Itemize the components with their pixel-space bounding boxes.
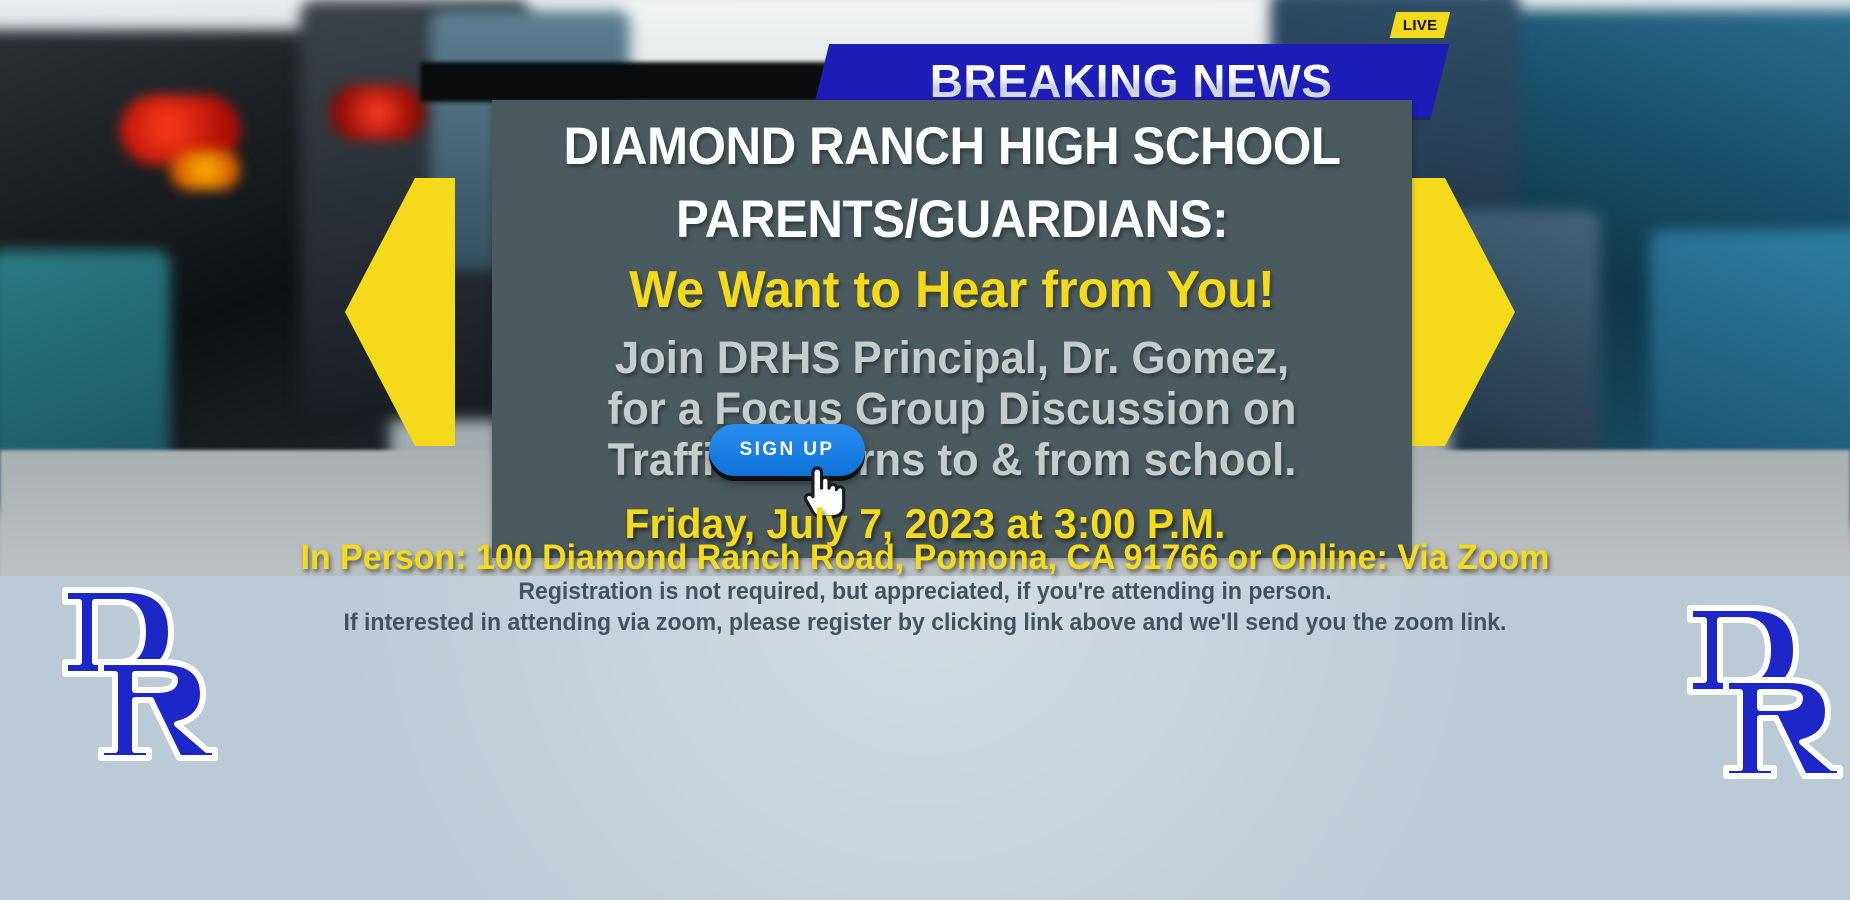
live-badge-label: LIVE xyxy=(1403,17,1438,34)
drhs-logo-left xyxy=(55,578,220,763)
fine-print-line-1: Registration is not required, but apprec… xyxy=(37,576,1813,607)
headline-line-2: PARENTS/GUARDIANS: xyxy=(524,173,1380,246)
event-location: In Person: 100 Diamond Ranch Road, Pomon… xyxy=(28,538,1823,578)
sign-up-button[interactable]: SIGN UP xyxy=(709,424,865,476)
flyer-canvas: BREAKING NEWS LIVE DIAMOND RANCH HIGH SC… xyxy=(0,0,1850,900)
chevron-right-icon xyxy=(1445,178,1515,446)
dark-shadow-strip xyxy=(420,62,840,102)
body-line-2: for a Focus Group Discussion on xyxy=(506,383,1398,434)
body-line-1: Join DRHS Principal, Dr. Gomez, xyxy=(506,332,1398,383)
chevron-left-icon xyxy=(345,178,415,446)
fine-print-line-2: If interested in attending via zoom, ple… xyxy=(37,607,1813,638)
subheadline: We Want to Hear from You! xyxy=(506,260,1398,320)
fine-print: Registration is not required, but apprec… xyxy=(37,576,1813,638)
live-badge: LIVE xyxy=(1390,12,1450,38)
drhs-logo-right xyxy=(1680,596,1845,781)
body-line-3: Traffic Patterns to & from school. xyxy=(506,434,1398,485)
tail-light-2 xyxy=(170,150,240,190)
chevron-left-bar xyxy=(415,178,455,446)
headline-line-1: DIAMOND RANCH HIGH SCHOOL xyxy=(524,100,1380,173)
tail-light-3 xyxy=(330,85,425,140)
content-panel: DIAMOND RANCH HIGH SCHOOL PARENTS/GUARDI… xyxy=(492,100,1412,558)
